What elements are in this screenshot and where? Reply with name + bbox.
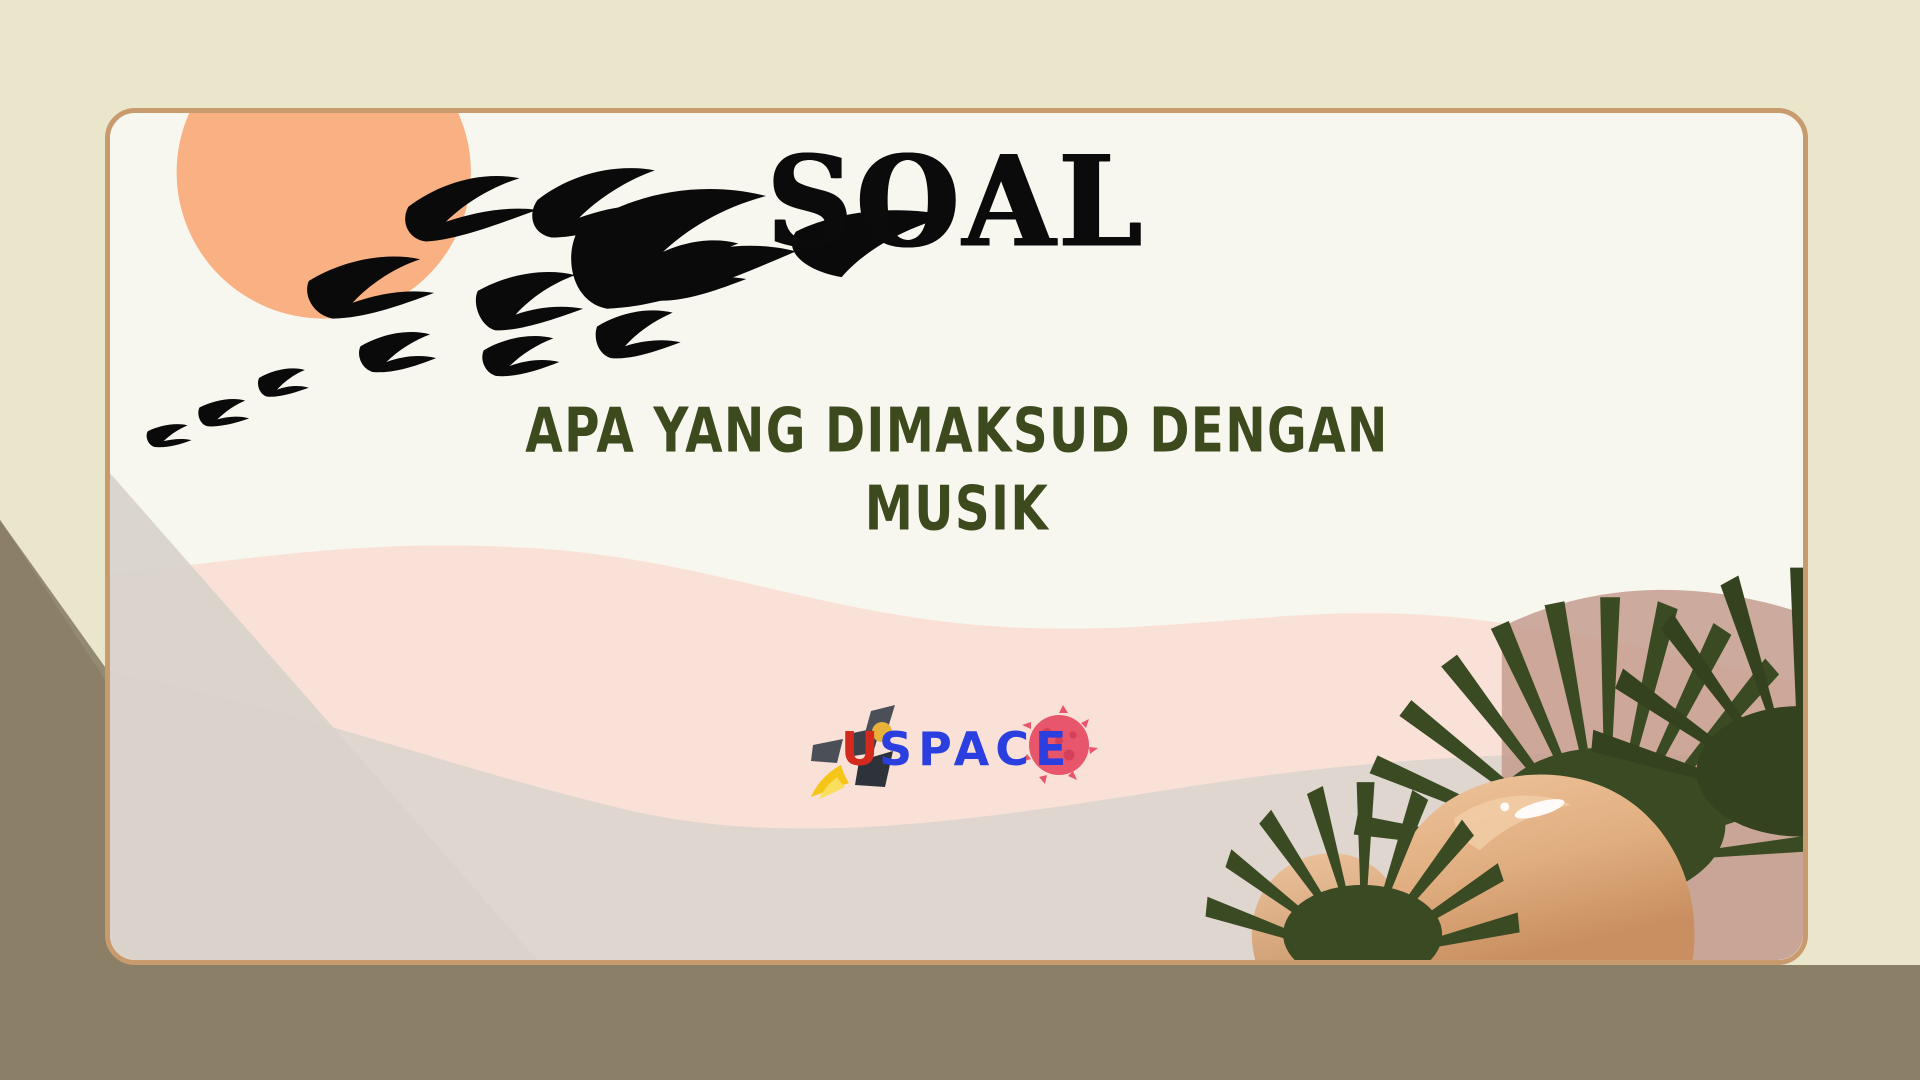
content-card: SOAL APA YANG DIMAKSUD DENGAN MUSIK [105,108,1808,965]
question-line-2: MUSIK [437,464,1475,551]
logo-letter-u: U [841,722,878,776]
boulder-specular-dot [1500,802,1509,811]
logo-letters-space: SPACE [879,722,1072,776]
question-line-1: APA YANG DIMAKSUD DENGAN [437,386,1475,473]
uspace-logo-graphic: U SPACE [807,699,1107,809]
uspace-logo: U SPACE [807,699,1107,809]
question-block: APA YANG DIMAKSUD DENGAN MUSIK [367,391,1547,547]
page-title: SOAL [110,133,1803,271]
slide-canvas: SOAL APA YANG DIMAKSUD DENGAN MUSIK [0,0,1920,1080]
